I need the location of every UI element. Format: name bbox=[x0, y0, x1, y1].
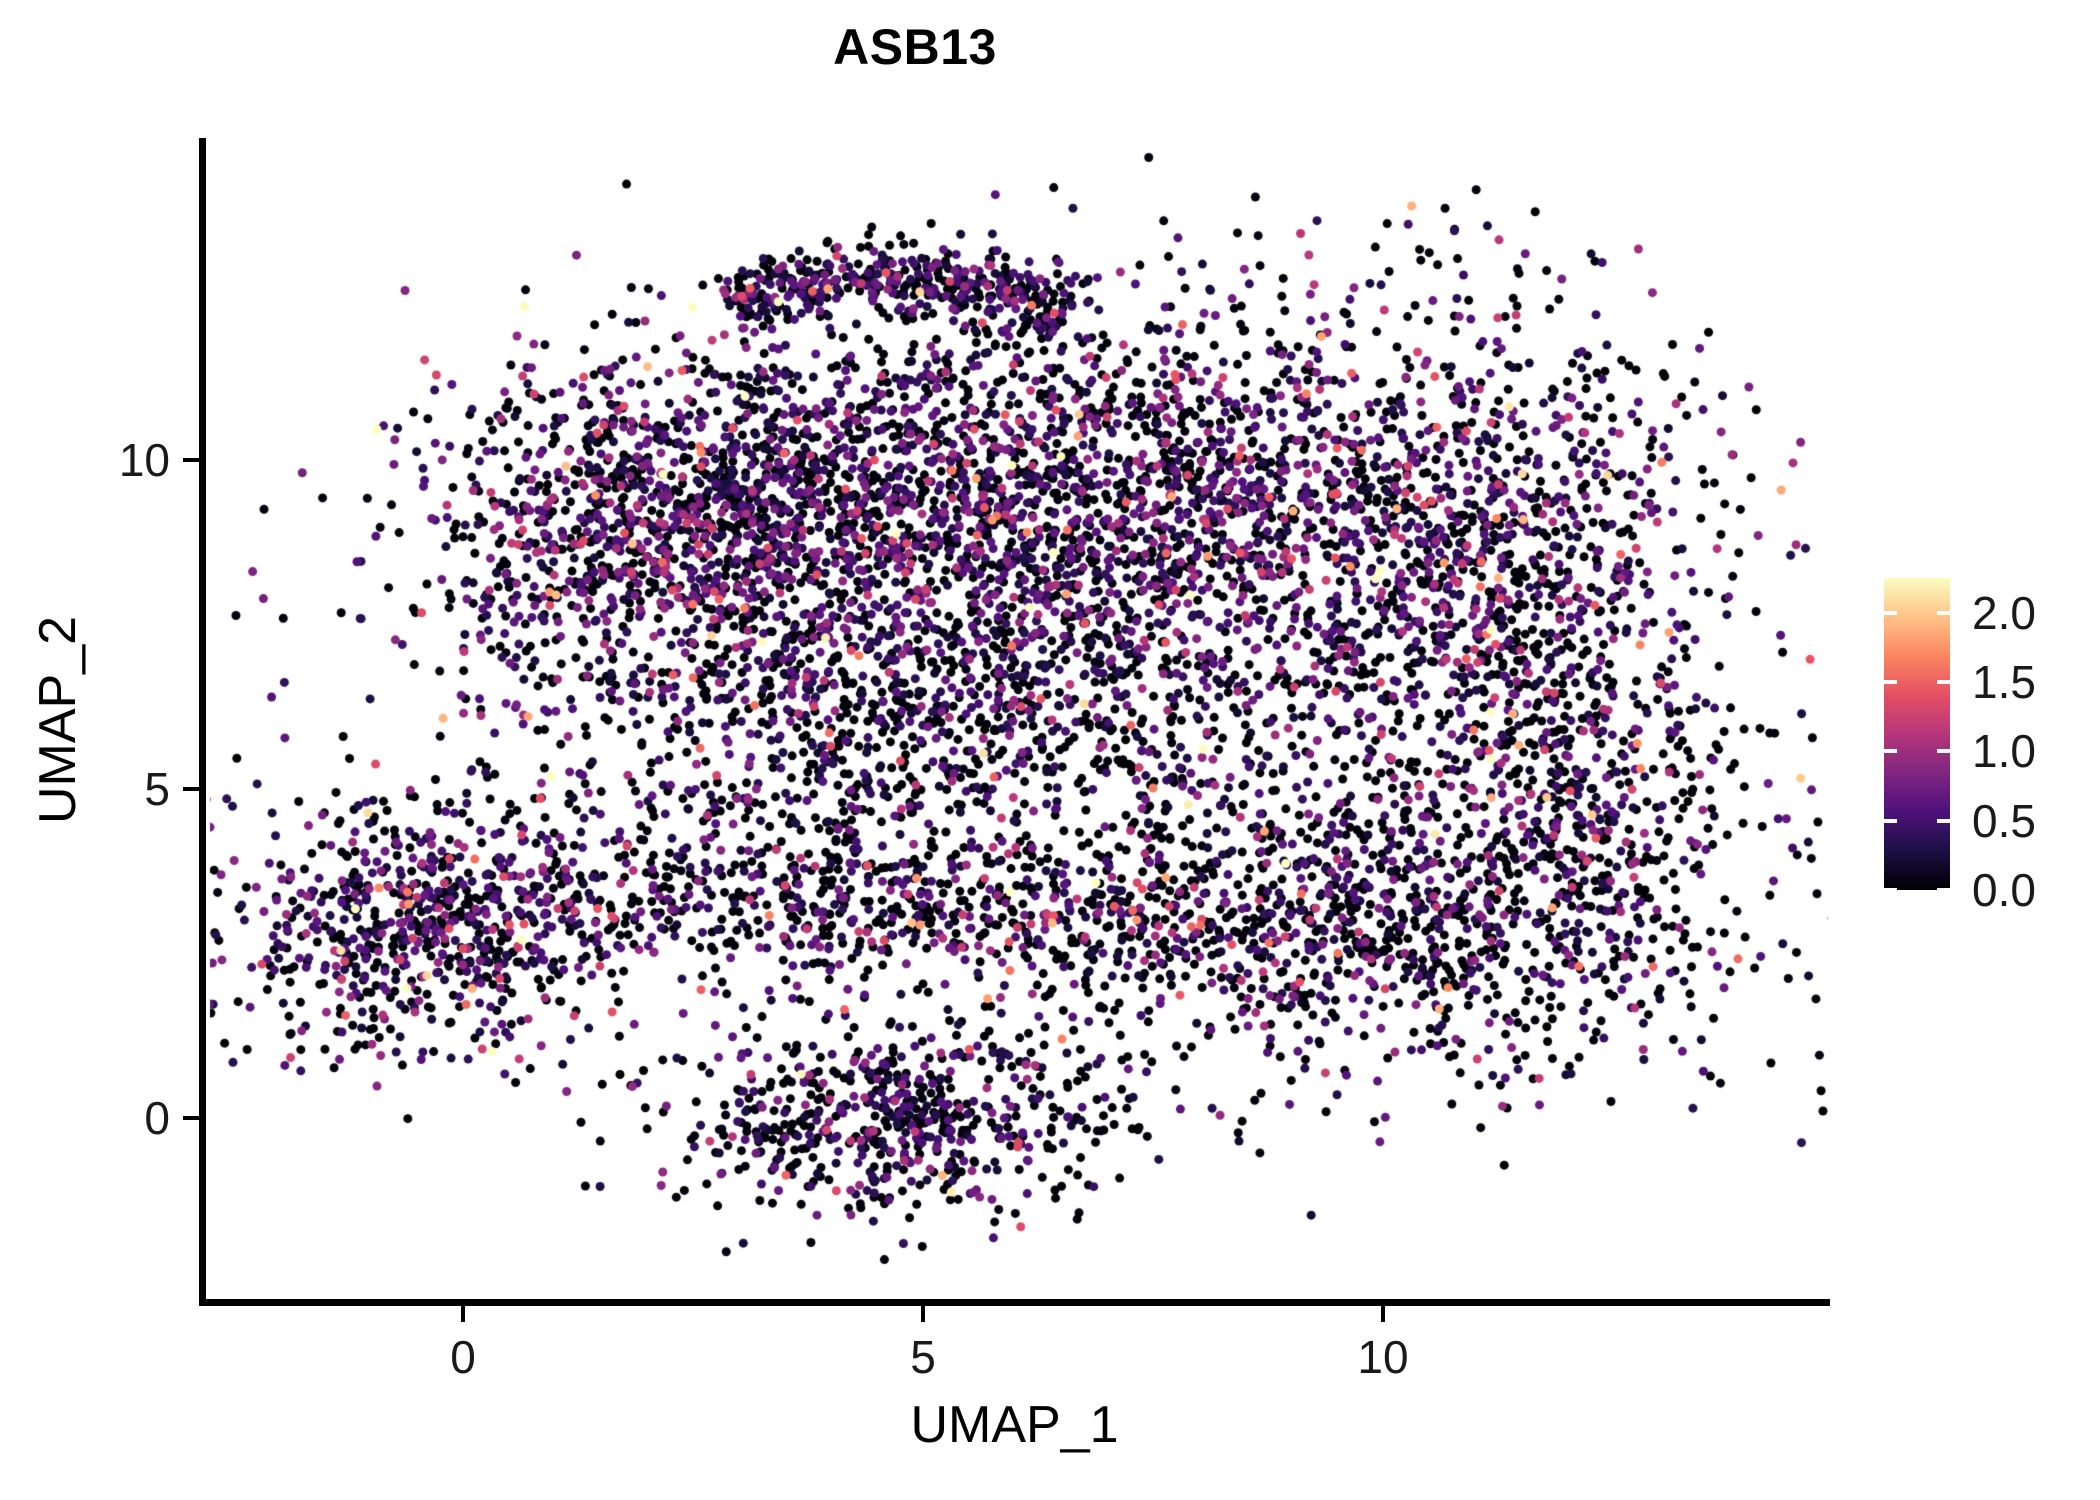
x-tick-mark bbox=[461, 1306, 465, 1322]
y-axis-label: UMAP_2 bbox=[28, 0, 88, 1440]
x-tick-label: 5 bbox=[910, 1330, 936, 1384]
scatter-plot-canvas bbox=[0, 0, 2100, 1500]
x-tick-label: 0 bbox=[450, 1330, 476, 1384]
x-tick-mark bbox=[921, 1306, 925, 1322]
x-axis-label: UMAP_1 bbox=[199, 1395, 1830, 1455]
y-tick-label: 5 bbox=[144, 762, 170, 816]
color-legend: 0.00.51.01.52.0 bbox=[1884, 560, 2084, 920]
x-tick-label: 10 bbox=[1357, 1330, 1408, 1384]
colorbar-tick-label: 2.0 bbox=[1972, 586, 2036, 640]
colorbar-tick-label: 1.5 bbox=[1972, 655, 2036, 709]
y-tick-label: 10 bbox=[119, 433, 170, 487]
colorbar-tick-label: 1.0 bbox=[1972, 724, 2036, 778]
y-axis-label-text: UMAP_2 bbox=[28, 616, 88, 824]
y-tick-mark bbox=[183, 1116, 199, 1120]
colorbar-gradient bbox=[1884, 578, 1950, 890]
colorbar-tick-label: 0.0 bbox=[1972, 863, 2036, 917]
umap-feature-plot: ASB13 0510 0510 UMAP_1 UMAP_2 0.00.51.01… bbox=[0, 0, 2100, 1500]
x-tick-mark bbox=[1381, 1306, 1385, 1322]
y-tick-label: 0 bbox=[144, 1091, 170, 1145]
colorbar-tick-label: 0.5 bbox=[1972, 794, 2036, 848]
y-tick-mark bbox=[183, 787, 199, 791]
y-tick-mark bbox=[183, 458, 199, 462]
